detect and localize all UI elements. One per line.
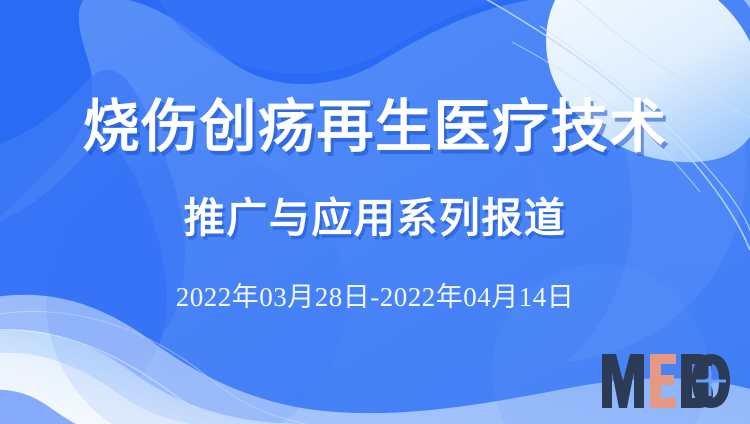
logo-letter-e [650,354,676,408]
logo-letter-m [602,354,644,408]
mebo-logo-icon [600,350,732,412]
promo-banner: 烧伤创疡再生医疗技术 推广与应用系列报道 2022年03月28日-2022年04… [0,0,750,424]
mebo-logo [600,350,732,412]
